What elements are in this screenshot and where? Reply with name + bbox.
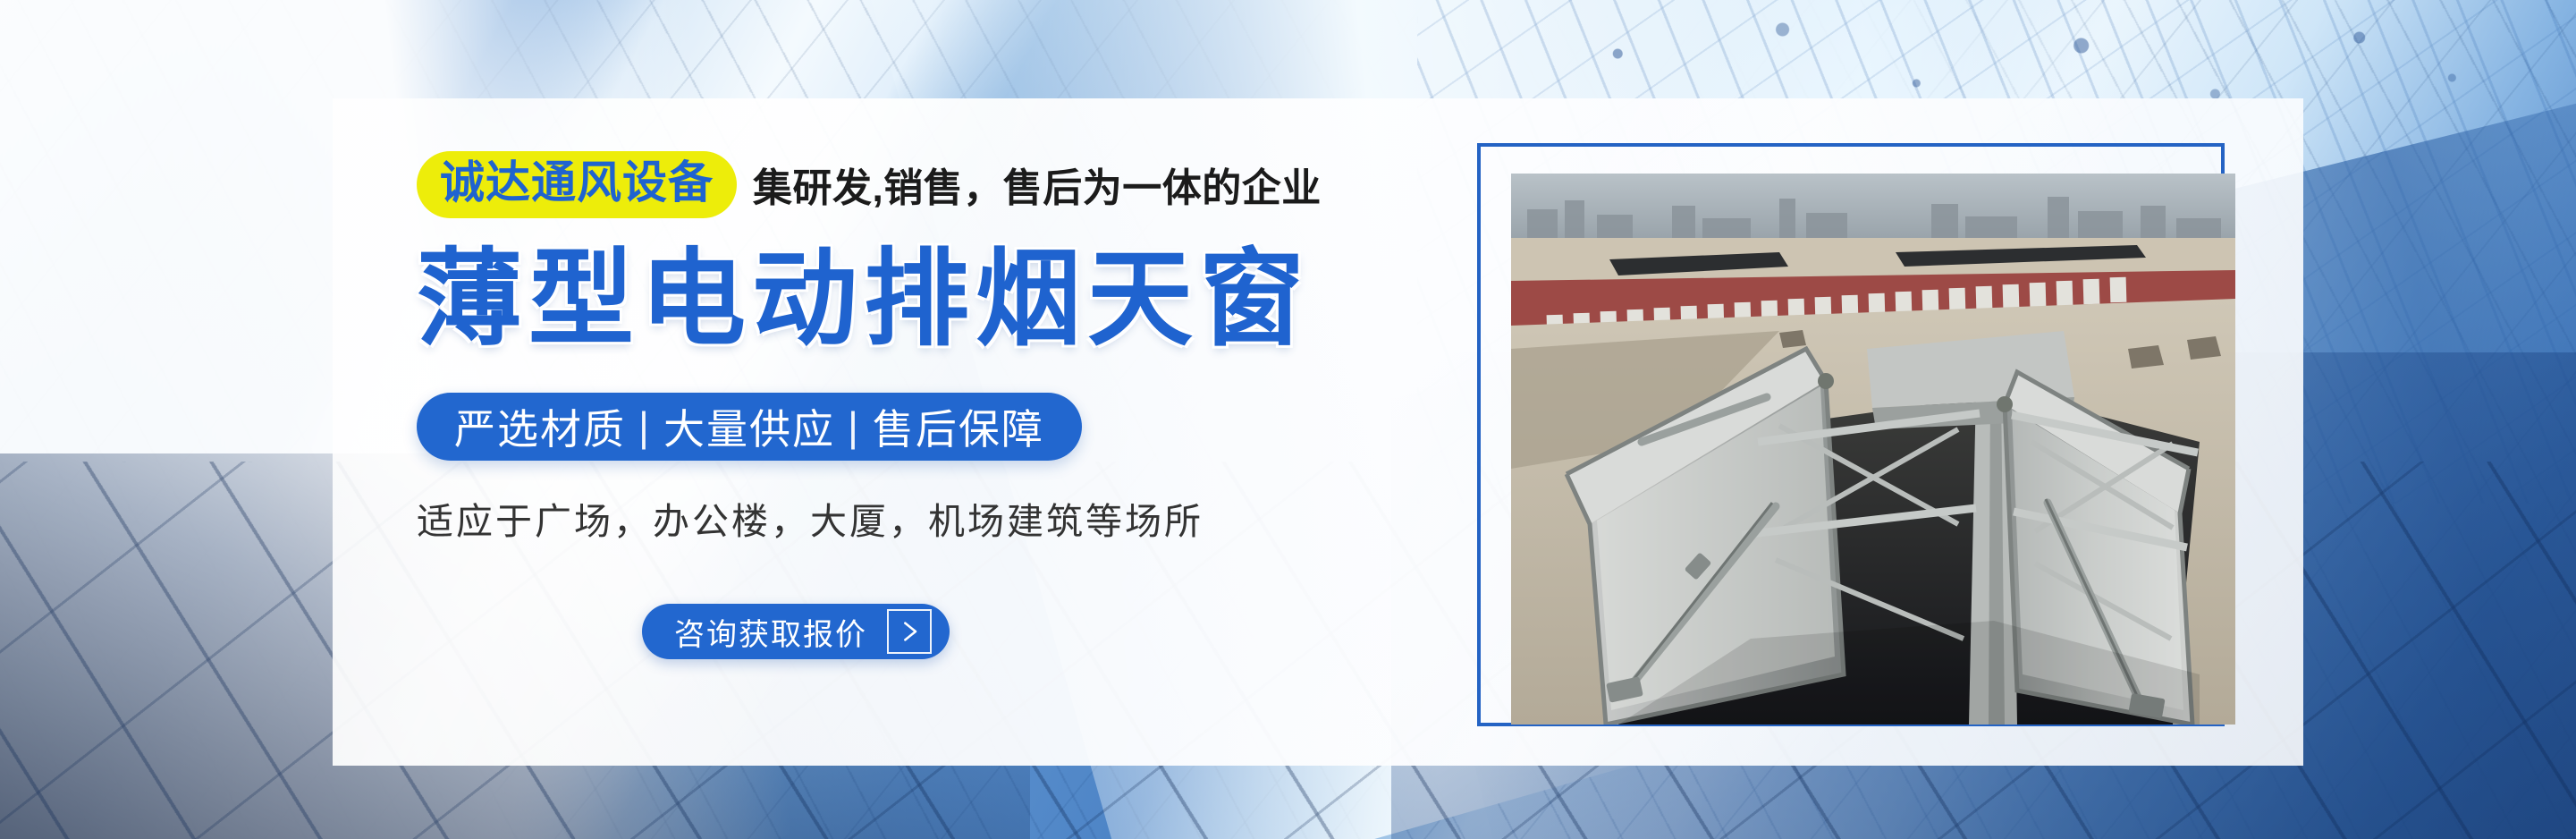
text-column: 诚达通风设备 集研发,销售，售后为一体的企业 薄型电动排烟天窗 严选材质 | 大… [417, 150, 1364, 659]
tagline-row: 诚达通风设备 集研发,销售，售后为一体的企业 [417, 150, 1364, 218]
product-photo-frame [1477, 143, 2225, 726]
promo-banner: 诚达通风设备 集研发,销售，售后为一体的企业 薄型电动排烟天窗 严选材质 | 大… [0, 0, 2576, 839]
description-text: 适应于广场，办公楼，大厦，机场建筑等场所 [417, 491, 1364, 545]
feature-item-0: 严选材质 [454, 397, 626, 456]
feature-bar: 严选材质 | 大量供应 | 售后保障 [417, 393, 1082, 461]
chevron-right-icon [887, 609, 932, 654]
quote-inquiry-label: 咨询获取报价 [674, 610, 867, 654]
cta-row: 咨询获取报价 [417, 604, 1364, 659]
quote-inquiry-button[interactable]: 咨询获取报价 [642, 604, 950, 659]
feature-item-2: 售后保障 [873, 397, 1044, 456]
feature-separator-0: | [626, 403, 663, 451]
brand-badge: 诚达通风设备 [417, 151, 737, 218]
tagline-text: 集研发,销售，售后为一体的企业 [753, 156, 1322, 213]
product-photo [1511, 174, 2235, 725]
feature-separator-1: | [835, 403, 873, 451]
feature-item-1: 大量供应 [663, 397, 835, 456]
page-title: 薄型电动排烟天窗 [417, 238, 1364, 362]
